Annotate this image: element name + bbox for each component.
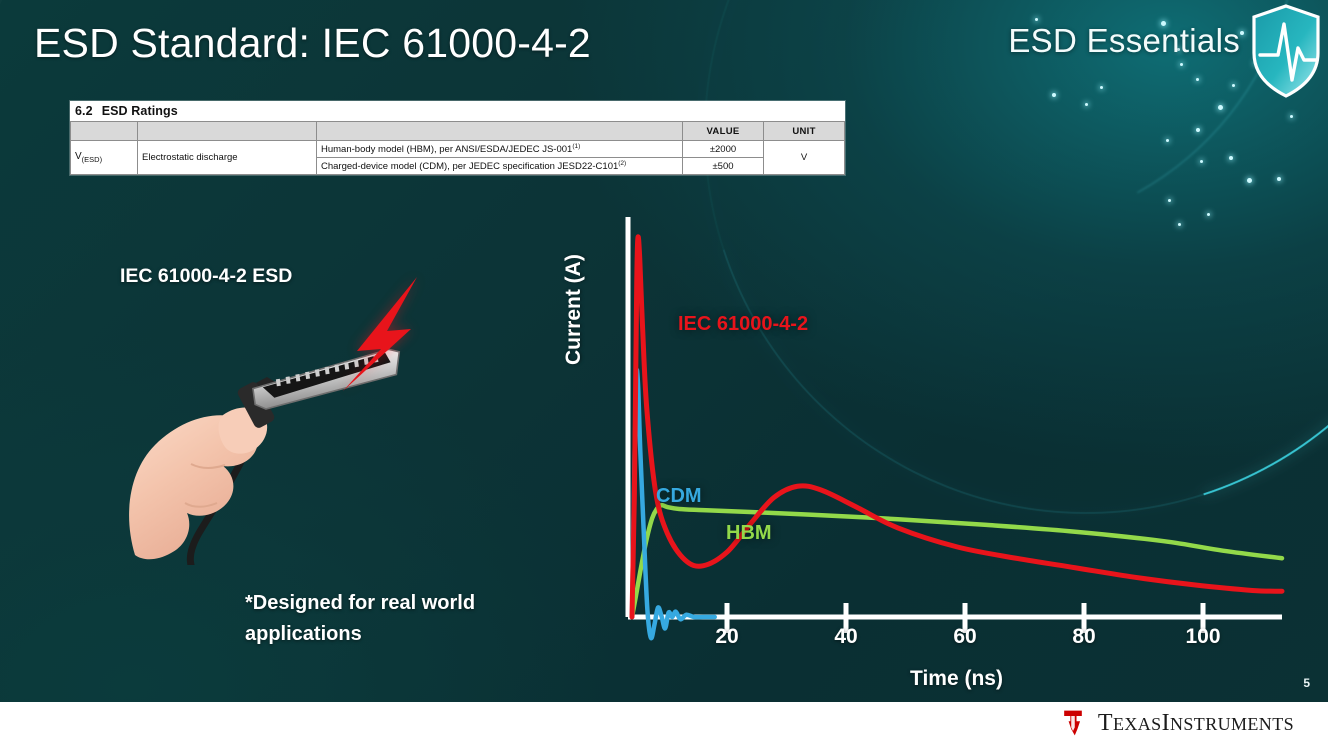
x-tick-label: 80: [1072, 625, 1095, 649]
particle-dot: [1166, 139, 1169, 142]
footnote-marker: (2): [618, 160, 626, 167]
particle-dot: [1085, 103, 1088, 106]
section-number: 6.2: [75, 104, 93, 118]
ti-texas-mark-icon: [1058, 708, 1088, 738]
x-tick-label: 60: [953, 625, 976, 649]
ti-wordmark: TEXASINSTRUMENTS: [1098, 710, 1294, 737]
particle-dot: [1232, 84, 1235, 87]
particle-dot: [1180, 63, 1183, 66]
brand-tagline: ESD Essentials: [1008, 22, 1240, 60]
x-tick-label: 100: [1185, 625, 1220, 649]
ti-word-t: T: [1098, 710, 1113, 736]
cell-symbol: V(ESD): [71, 141, 138, 175]
slide-footer: TEXASINSTRUMENTS: [0, 702, 1328, 746]
y-axis-label: Current (A): [562, 254, 586, 365]
shield-pulse-icon: [1248, 0, 1324, 102]
footnote-marker: (1): [572, 143, 580, 150]
table-section-heading: 6.2ESD Ratings: [70, 101, 845, 121]
particle-dot: [1100, 86, 1103, 89]
ratings-table: VALUE UNIT V(ESD) Electrostatic discharg…: [70, 121, 845, 175]
hand-connector-illustration: [95, 265, 435, 565]
series-label-iec: IEC 61000-4-2: [678, 313, 808, 336]
series-path-group: [632, 237, 1282, 638]
particle-dot: [1168, 199, 1171, 202]
chart-plot-area: [570, 205, 1305, 695]
cell-value-cdm: ±500: [683, 158, 764, 175]
particle-dot: [1200, 160, 1203, 163]
esd-waveform-chart: Current (A) 20 40 60 80 100 Time (ns) I: [570, 205, 1305, 695]
esd-ratings-table: 6.2ESD Ratings VALUE UNIT V(ESD) Electro…: [70, 101, 845, 175]
cell-condition-hbm: Human-body model (HBM), per ANSI/ESDA/JE…: [317, 141, 683, 158]
series-label-hbm: HBM: [726, 522, 772, 545]
series-line-iec: [632, 237, 1282, 617]
particle-dot: [1277, 177, 1281, 181]
particle-dot: [1035, 18, 1038, 21]
particle-dot: [1229, 156, 1233, 160]
hdmi-connector: [250, 348, 404, 410]
section-title: ESD Ratings: [102, 104, 178, 118]
particle-dot: [1052, 93, 1056, 97]
particle-dot: [1247, 178, 1252, 183]
slide-canvas: ESD Standard: IEC 61000-4-2 ESD Essentia…: [0, 0, 1328, 746]
ti-word-i: I: [1162, 710, 1170, 736]
particle-dot: [1196, 78, 1199, 81]
header-unit: UNIT: [764, 122, 845, 141]
series-label-cdm: CDM: [656, 485, 702, 508]
x-tick-label: 40: [834, 625, 857, 649]
particle-dot: [1240, 31, 1244, 35]
cell-value-hbm: ±2000: [683, 141, 764, 158]
header-condition: [317, 122, 683, 141]
header-symbol: [71, 122, 138, 141]
ti-word-exas: EXAS: [1113, 714, 1162, 734]
header-parameter: [138, 122, 317, 141]
table-row: V(ESD) Electrostatic discharge Human-bod…: [71, 141, 845, 158]
cell-parameter: Electrostatic discharge: [138, 141, 317, 175]
page-title: ESD Standard: IEC 61000-4-2: [34, 20, 591, 67]
particle-dot: [1290, 115, 1293, 118]
header-value: VALUE: [683, 122, 764, 141]
cell-unit: V: [764, 141, 845, 175]
page-number: 5: [1303, 676, 1310, 690]
x-axis-label: Time (ns): [910, 667, 1003, 691]
particle-dot: [1218, 105, 1223, 110]
x-tick-label: 20: [715, 625, 738, 649]
particle-dot: [1196, 128, 1200, 132]
texas-instruments-logo: TEXASINSTRUMENTS: [1058, 708, 1294, 738]
footnote-note: *Designed for real world applications: [245, 588, 545, 650]
cell-condition-cdm: Charged-device model (CDM), per JEDEC sp…: [317, 158, 683, 175]
ti-word-nstruments: NSTRUMENTS: [1170, 714, 1294, 734]
table-header-row: VALUE UNIT: [71, 122, 845, 141]
